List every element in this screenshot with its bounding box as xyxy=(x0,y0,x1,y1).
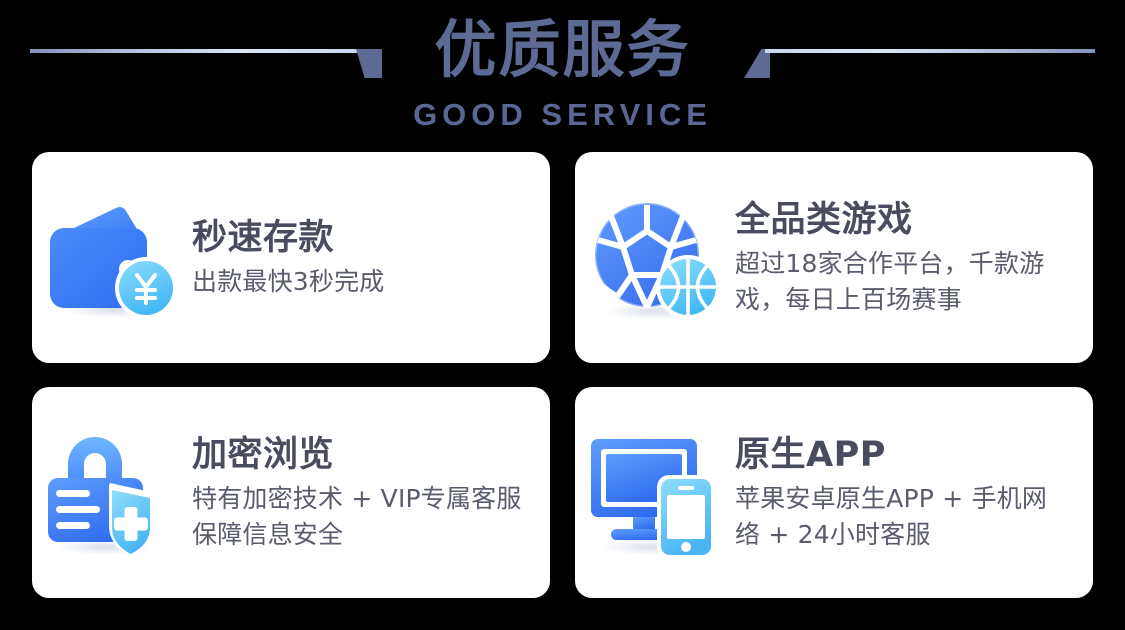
card-description: 超过18家合作平台，千款游戏，每日上百场赛事 xyxy=(735,246,1065,318)
wallet-coin-icon xyxy=(32,152,192,363)
feature-card-games[interactable]: 全品类游戏 超过18家合作平台，千款游戏，每日上百场赛事 xyxy=(575,152,1093,363)
card-text: 加密浏览 特有加密技术 + VIP专属客服保障信息安全 xyxy=(192,433,550,553)
header: 优质服务 GOOD SERVICE xyxy=(0,0,1125,150)
card-description: 特有加密技术 + VIP专属客服保障信息安全 xyxy=(192,481,522,553)
card-description: 出款最快3秒完成 xyxy=(192,264,532,300)
feature-card-encryption[interactable]: 加密浏览 特有加密技术 + VIP专属客服保障信息安全 xyxy=(32,387,550,598)
page-subtitle: GOOD SERVICE xyxy=(0,97,1125,133)
feature-card-deposit[interactable]: 秒速存款 出款最快3秒完成 xyxy=(32,152,550,363)
page-title: 优质服务 xyxy=(0,11,1125,89)
card-title: 全品类游戏 xyxy=(735,198,1075,242)
feature-card-grid: 秒速存款 出款最快3秒完成 xyxy=(32,152,1093,598)
monitor-phone-icon xyxy=(575,387,735,598)
card-title: 原生APP xyxy=(735,433,1075,477)
lock-shield-icon xyxy=(32,387,192,598)
card-text: 秒速存款 出款最快3秒完成 xyxy=(192,216,550,300)
soccer-basketball-icon xyxy=(575,152,735,363)
card-text: 全品类游戏 超过18家合作平台，千款游戏，每日上百场赛事 xyxy=(735,198,1093,318)
promo-banner: 优质服务 GOOD SERVICE xyxy=(0,0,1125,630)
card-text: 原生APP 苹果安卓原生APP + 手机网络 + 24小时客服 xyxy=(735,433,1093,553)
card-title: 秒速存款 xyxy=(192,216,532,260)
card-description: 苹果安卓原生APP + 手机网络 + 24小时客服 xyxy=(735,481,1065,553)
card-title: 加密浏览 xyxy=(192,433,532,477)
feature-card-native-app[interactable]: 原生APP 苹果安卓原生APP + 手机网络 + 24小时客服 xyxy=(575,387,1093,598)
